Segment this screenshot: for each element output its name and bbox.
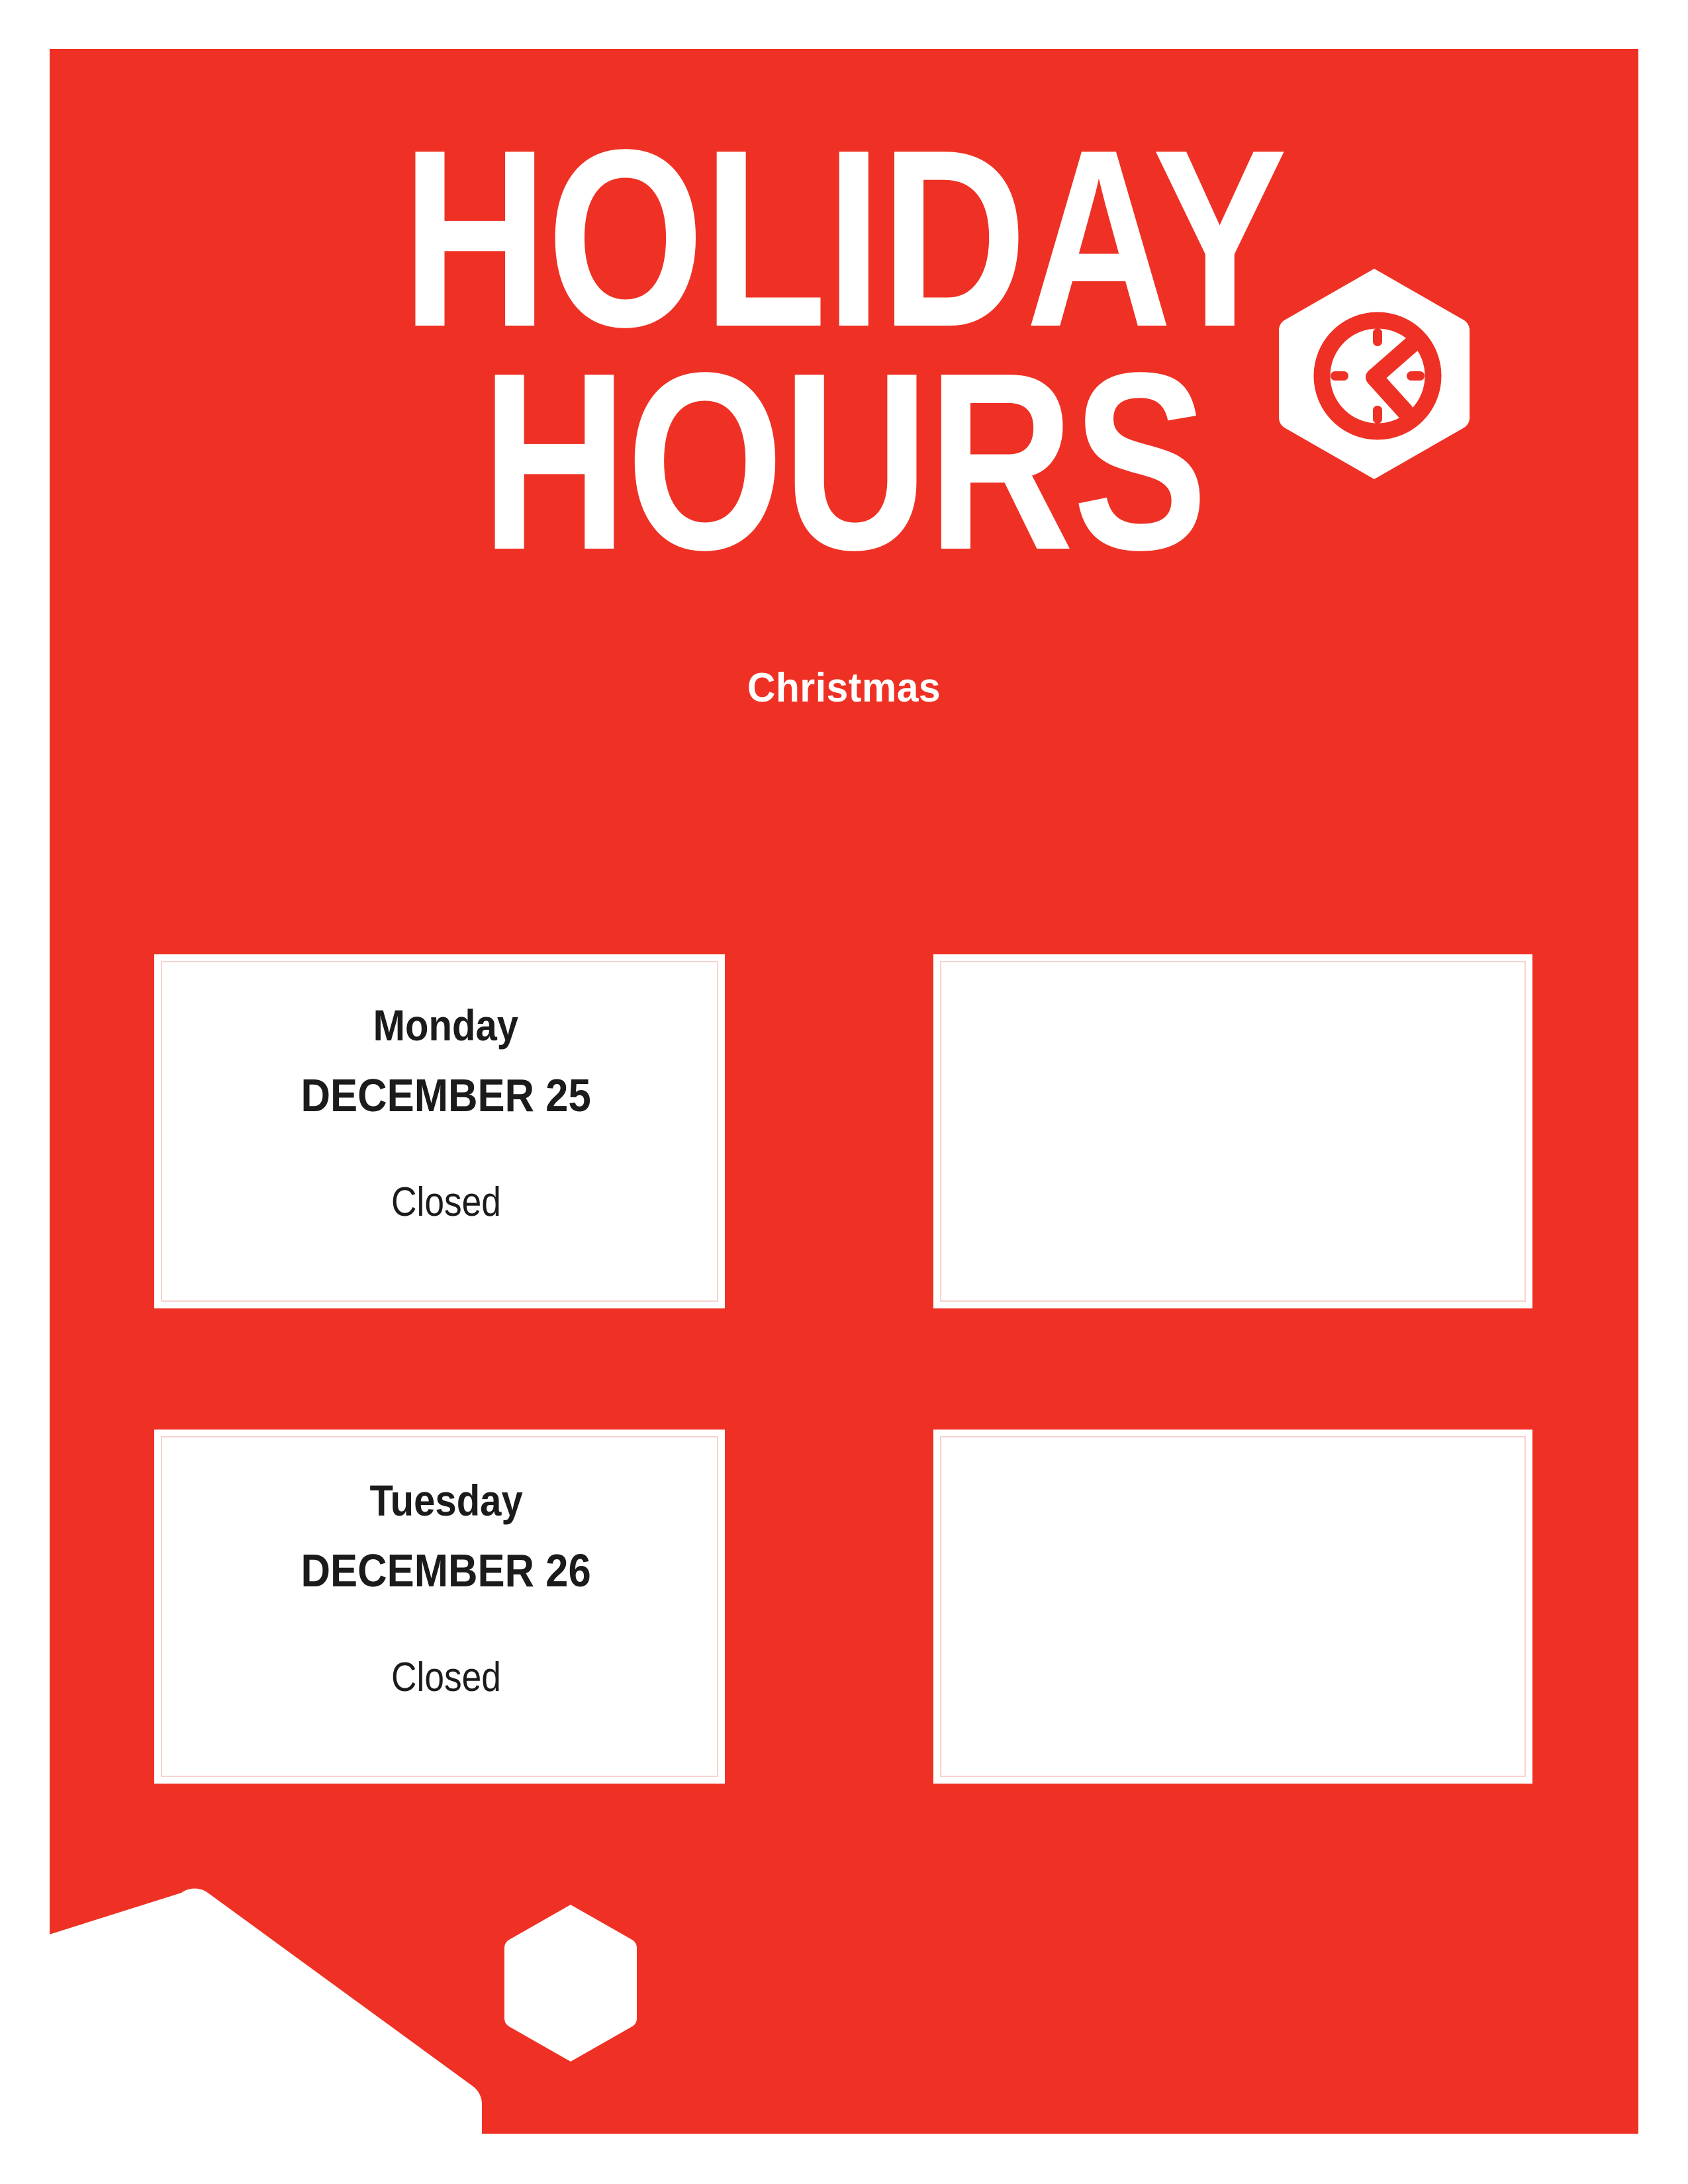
day-status: Closed <box>379 1182 501 1223</box>
day-name: Tuesday <box>357 1479 523 1522</box>
day-status: Closed <box>379 1657 501 1698</box>
day-date: DECEMBER 25 <box>288 1072 591 1118</box>
clock-hexagon-icon <box>1275 265 1474 483</box>
day-name: Monday <box>361 1003 519 1047</box>
decorative-hexagon-small <box>500 1902 642 2064</box>
schedule-card-day-2: Tuesday DECEMBER 26 Closed <box>154 1430 725 1784</box>
schedule-notes-day-2 <box>933 1430 1532 1784</box>
schedule-notes-day-1 <box>933 954 1532 1308</box>
schedule-card-day-1: Monday DECEMBER 25 Closed <box>154 954 725 1308</box>
page-subtitle: Christmas <box>89 664 1599 711</box>
day-date: DECEMBER 26 <box>288 1547 591 1594</box>
decorative-hexagon-large <box>50 1888 486 2134</box>
holiday-hours-poster: HOLIDAY HOURS Christmas Monday DECEMBER … <box>50 49 1638 2134</box>
